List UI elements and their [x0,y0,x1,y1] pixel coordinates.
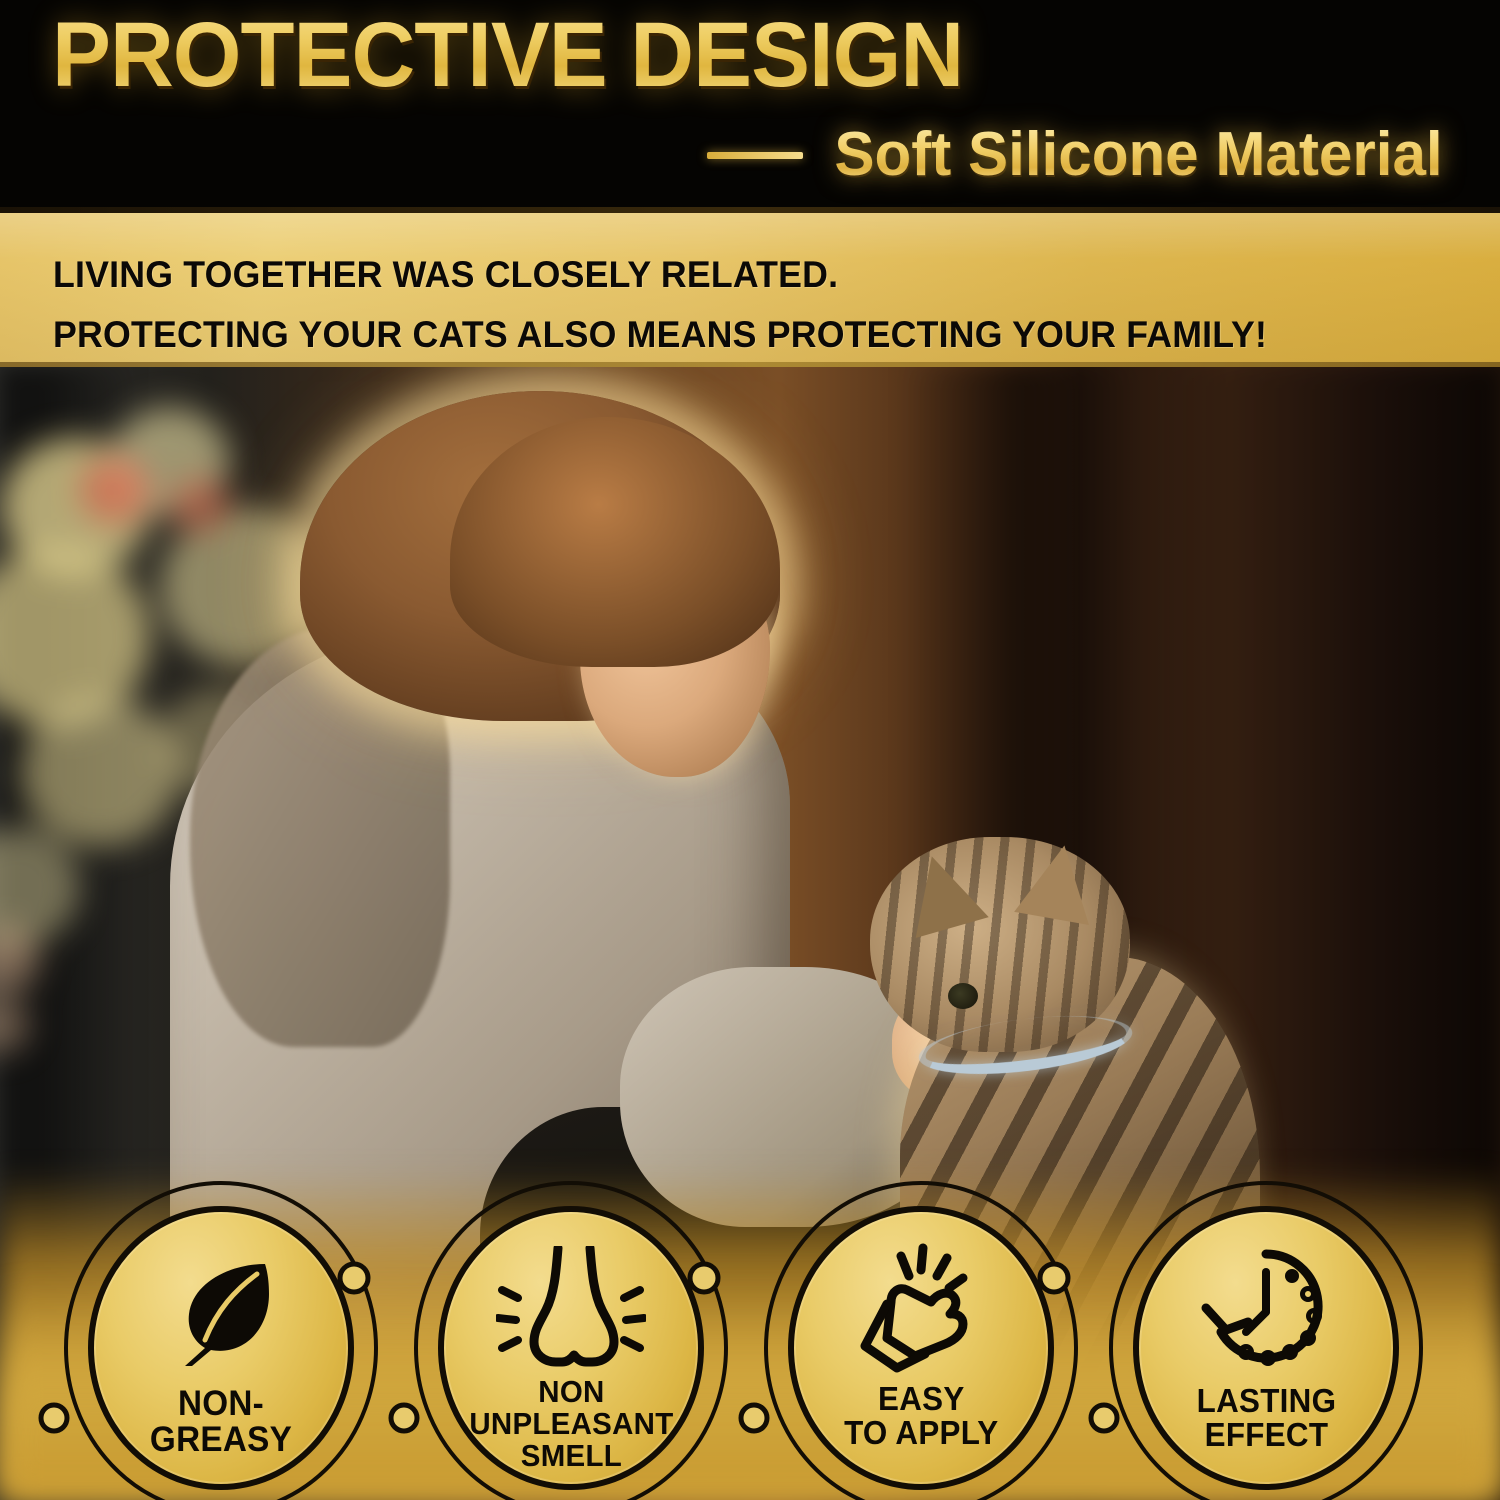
tagline-line-2: PROTECTING YOUR CATS ALSO MEANS PROTECTI… [53,305,1385,365]
badge-label-line-2: EFFECT [1204,1416,1328,1453]
tagline-line-1: LIVING TOGETHER WAS CLOSELY RELATED. [53,245,1385,305]
subtitle-row: Soft Silicone Material [707,124,1452,186]
badge-easy-to-apply[interactable]: EASY TO APPLY [788,1206,1054,1490]
badge-label: NON-GREASY [100,1386,341,1458]
hair-bangs [450,417,780,667]
badge-label-line-2: UNPLEASANT [469,1406,673,1441]
cat-ear-left [895,846,988,938]
nose-icon [496,1234,646,1382]
feature-badge-row: NON-GREASY NON UNP [0,1160,1500,1500]
badge-label-line-1: LASTING [1196,1382,1336,1419]
header-subtitle: Soft Silicone Material [834,124,1442,186]
leaf-icon [161,1234,281,1382]
badge-lasting-effect[interactable]: LASTING EFFECT [1133,1206,1399,1490]
cat-eye [948,983,978,1009]
product-infographic: PROTECTIVE DESIGN Soft Silicone Material… [0,0,1500,1500]
badge-label: EASY TO APPLY [836,1382,1006,1450]
header-banner: PROTECTIVE DESIGN Soft Silicone Material [0,0,1500,213]
badge-label-line-1: EASY [878,1380,965,1417]
clock-arrow-icon [1196,1234,1336,1382]
tagline-band: LIVING TOGETHER WAS CLOSELY RELATED. PRO… [0,213,1500,367]
badge-non-greasy[interactable]: NON-GREASY [88,1206,354,1490]
badge-label-line-2: TO APPLY [844,1414,998,1451]
em-dash-rule [707,152,803,159]
cat-ear-right [1014,839,1102,925]
badge-label: LASTING EFFECT [1189,1384,1344,1452]
tagline-text: LIVING TOGETHER WAS CLOSELY RELATED. PRO… [53,245,1385,365]
badge-label-line-3: SMELL [520,1438,621,1473]
badge-non-unpleasant-smell[interactable]: NON UNPLEASANT SMELL [438,1206,704,1490]
badge-label: NON UNPLEASANT SMELL [461,1376,680,1472]
snapping-fingers-icon [851,1234,991,1382]
badge-label-line-1: NON [538,1374,604,1409]
page-title: PROTECTIVE DESIGN [52,9,963,101]
